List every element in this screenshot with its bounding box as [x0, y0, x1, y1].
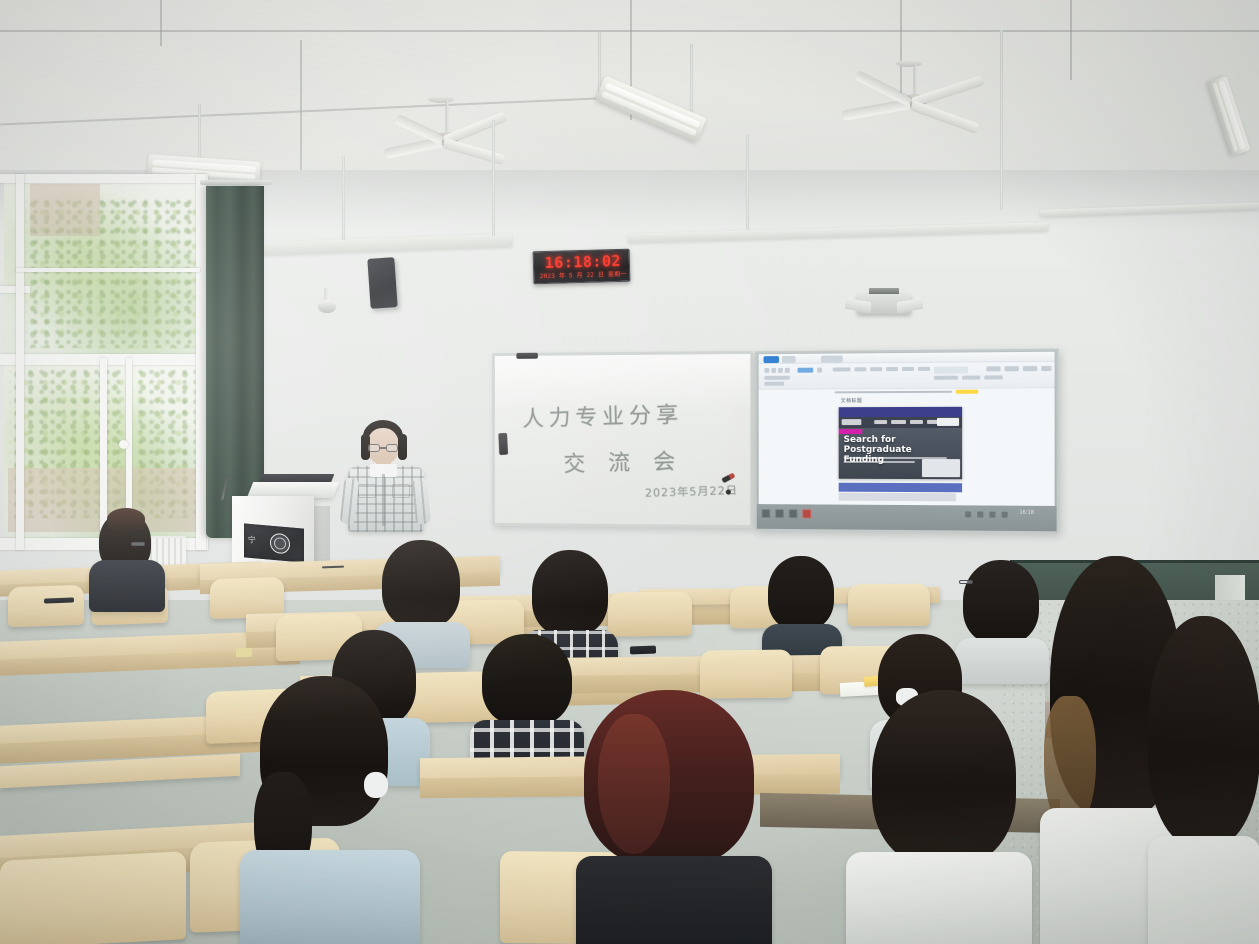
fan-blade — [443, 138, 505, 164]
fan-mount — [896, 60, 922, 67]
seat-back-foreground[interactable] — [0, 851, 186, 944]
student-hair — [482, 634, 572, 726]
student-window-left — [85, 508, 167, 604]
student-body — [240, 850, 420, 944]
webpage-nav-item — [910, 420, 923, 424]
ceiling-seam — [160, 0, 162, 46]
ribbon-icon[interactable] — [764, 368, 769, 373]
ribbon-style-preset[interactable] — [870, 367, 882, 371]
student-hair-highlight — [107, 508, 145, 530]
doc-highlight — [956, 390, 978, 394]
face-mask — [364, 772, 388, 798]
student-body — [576, 856, 772, 944]
ribbon-style-preset[interactable] — [918, 367, 930, 371]
student-lightblue — [240, 676, 420, 944]
rail-drop-rod — [746, 134, 749, 230]
student-redhair — [576, 690, 772, 944]
student-hair-highlight — [598, 714, 670, 854]
student-white-shirt — [846, 690, 1032, 944]
glasses-lens — [386, 444, 398, 452]
ribbon-style-preset[interactable] — [886, 367, 898, 371]
ribbon-icon[interactable] — [785, 368, 790, 373]
student-hair — [963, 560, 1039, 644]
tray-icon[interactable] — [989, 512, 995, 518]
student-glasses-icon — [959, 580, 973, 584]
webpage-search-box — [937, 418, 959, 426]
ribbon-style-preset[interactable] — [854, 367, 866, 371]
ribbon-icon[interactable] — [1005, 366, 1019, 371]
webpage-nav-item — [891, 420, 906, 424]
tab-document[interactable] — [821, 356, 843, 363]
webpage-nav-item — [874, 420, 887, 424]
rail-drop-rod — [1000, 30, 1003, 210]
window-latch[interactable] — [119, 440, 128, 449]
presenter-arm — [412, 477, 431, 524]
ribbon-icon[interactable] — [771, 368, 776, 373]
classroom-scene: 16:18:02 2023 年 5 月 22 日 星期一 人力专业分享 — [0, 0, 1259, 944]
ribbon-icon[interactable] — [817, 368, 822, 373]
fan-rod — [914, 64, 917, 96]
tray-icon[interactable] — [965, 511, 971, 517]
presenter-shirt-pocket — [392, 484, 410, 498]
rail-drop-rod — [342, 156, 345, 240]
seat-back[interactable] — [608, 591, 692, 636]
tab-file[interactable] — [782, 356, 796, 363]
window-frame-top — [0, 174, 208, 183]
tab-active[interactable] — [764, 356, 780, 363]
taskbar-start-icon[interactable] — [762, 509, 771, 518]
webpage-navbar — [839, 407, 962, 417]
microphone[interactable] — [221, 474, 228, 500]
podium-plaque: 宁 — [244, 523, 304, 562]
student-hair — [872, 690, 1016, 866]
window-mullion-vertical — [16, 174, 24, 550]
ceiling-fan-right — [840, 60, 990, 144]
projection-screen[interactable]: 文档标题 Search for Postgraduate Funding — [755, 349, 1059, 534]
curtain-rod — [200, 180, 272, 185]
presenter — [340, 418, 432, 530]
whiteboard-title-line2: 交 流 会 — [563, 443, 684, 478]
taskbar-app-icon[interactable] — [802, 509, 811, 518]
whiteboard-title-line1: 人力专业分享 — [522, 397, 684, 434]
light-drop-rod — [690, 44, 693, 116]
presenter-hair-side — [398, 434, 407, 460]
embedded-webpage-screenshot: Search for Postgraduate Funding — [839, 407, 962, 479]
doc-blue-band — [839, 483, 962, 493]
ribbon-icon[interactable] — [962, 376, 980, 380]
university-emblem-icon — [270, 533, 290, 555]
podium-script-mark: 宁 — [247, 534, 266, 546]
student-glasses-icon — [131, 542, 145, 546]
rail-drop-rod — [492, 120, 495, 236]
ribbon-icon[interactable] — [778, 368, 783, 373]
ceiling-projector — [845, 288, 923, 320]
presenter-shirt-pocket — [358, 484, 376, 498]
webpage-logo — [842, 419, 862, 425]
whiteboard-eraser[interactable] — [498, 433, 508, 455]
taskbar-app-icon[interactable] — [789, 509, 798, 518]
document-page[interactable]: 文档标题 Search for Postgraduate Funding — [759, 388, 1055, 508]
wall-speaker — [367, 257, 397, 309]
student-hair — [768, 556, 834, 630]
whiteboard-eraser[interactable] — [516, 353, 538, 359]
ribbon-icon[interactable] — [764, 382, 783, 386]
fan-blade — [854, 71, 912, 106]
fan-blade — [910, 100, 979, 132]
tray-icon[interactable] — [1002, 512, 1008, 518]
student-hair — [532, 550, 608, 636]
exterior-building — [30, 184, 100, 236]
ribbon-style-button[interactable] — [798, 368, 814, 373]
ribbon-icon[interactable] — [934, 376, 958, 380]
fan-rod — [446, 100, 449, 134]
windows-taskbar[interactable]: 16:18 — [757, 504, 1057, 531]
webpage-accent-bar — [839, 429, 863, 434]
doc-grey-band — [839, 493, 956, 502]
whiteboard-magnet[interactable] — [726, 490, 731, 495]
window-divider — [16, 268, 200, 272]
presenter-shirt-placket — [382, 474, 385, 526]
fan-mount — [428, 96, 454, 103]
doc-heading: 文档标题 — [841, 397, 863, 404]
ribbon-style-preset[interactable] — [902, 367, 914, 371]
ribbon-icon[interactable] — [1041, 366, 1051, 371]
dome-security-camera — [318, 300, 336, 313]
clock-date: 2023 年 5 月 22 日 星期一 — [538, 270, 628, 283]
ribbon-icon[interactable] — [986, 366, 1000, 371]
doc-text-line — [835, 391, 952, 394]
taskbar-clock[interactable]: 16:18 — [1019, 510, 1034, 516]
ribbon-style-preset[interactable] — [833, 367, 851, 371]
student-body — [846, 852, 1032, 944]
ribbon-icon[interactable] — [984, 375, 1002, 379]
whiteboard-date: 2023年5月22日 — [645, 482, 739, 501]
ribbon-icon[interactable] — [1023, 366, 1037, 371]
phone-on-desk[interactable] — [630, 646, 656, 655]
seat-back[interactable] — [848, 584, 930, 627]
light-drop-rod — [198, 104, 201, 160]
glasses-lens — [368, 444, 380, 452]
student-hair — [1148, 616, 1259, 846]
font-preview[interactable] — [934, 367, 968, 374]
led-wall-clock: 16:18:02 2023 年 5 月 22 日 星期一 — [533, 249, 631, 285]
webpage-card — [922, 459, 960, 477]
window-mullion-vertical — [196, 174, 206, 550]
ribbon-icon[interactable] — [764, 376, 789, 380]
student-hair — [382, 540, 460, 628]
whiteboard[interactable]: 人力专业分享 交 流 会 2023年5月22日 — [492, 351, 753, 528]
presenter-glasses-icon — [368, 444, 398, 452]
sticky-note[interactable] — [236, 648, 252, 658]
student-body — [89, 560, 165, 612]
window-mullion — [0, 286, 30, 293]
student-edge-right — [1148, 616, 1259, 944]
student-body — [1148, 836, 1259, 944]
taskbar-app-icon[interactable] — [775, 509, 784, 518]
tray-icon[interactable] — [977, 511, 983, 517]
fan-blade — [395, 115, 444, 144]
webpage-hero-sub — [844, 461, 915, 463]
seat-back[interactable] — [8, 585, 84, 628]
fan-blade — [911, 75, 984, 106]
phone-on-desk[interactable] — [44, 597, 74, 603]
student-darkteal — [762, 556, 842, 660]
word-processor-window[interactable]: 文档标题 Search for Postgraduate Funding — [759, 352, 1055, 508]
ceiling-seam — [1070, 0, 1072, 80]
